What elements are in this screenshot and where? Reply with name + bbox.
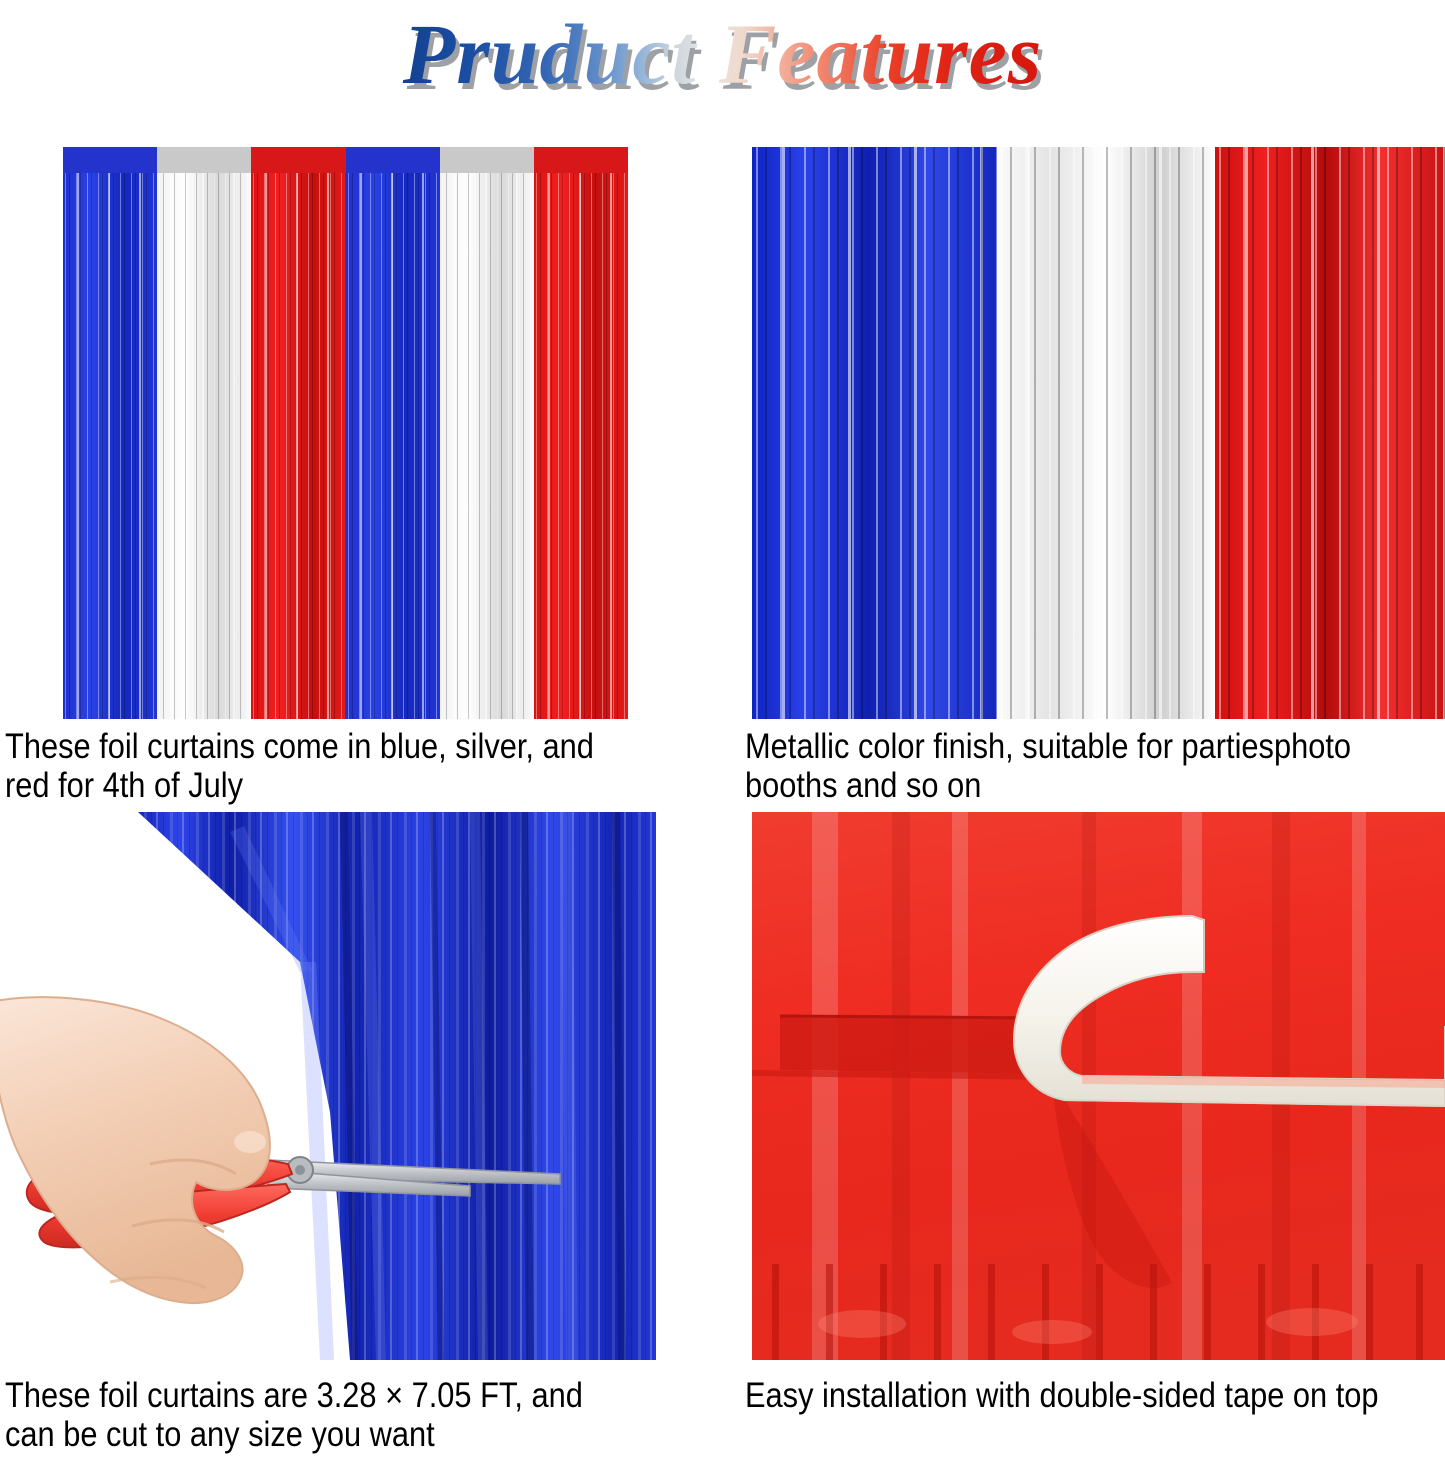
curtain-header-band	[251, 147, 345, 173]
foil-texture	[997, 147, 1216, 719]
stripe-group	[63, 147, 628, 719]
curtain-header-band	[440, 147, 534, 173]
feature-caption-cuttable-size: These foil curtains are 3.28 × 7.05 FT, …	[5, 1376, 639, 1454]
band-silver	[997, 147, 1216, 719]
band-blue	[752, 147, 997, 719]
band-group	[752, 147, 1445, 719]
stripe-red	[534, 147, 628, 719]
feature-card-colors: These foil curtains come in blue, silver…	[0, 130, 722, 820]
page-title: Pruduct Features	[397, 11, 1049, 107]
curtain-header-band	[157, 147, 251, 173]
knuckle-highlight	[234, 1131, 266, 1153]
page-header: Pruduct Features	[0, 0, 1445, 118]
curtain-header-band	[346, 147, 440, 173]
tape-scene	[752, 812, 1445, 1360]
curtain-fold-band	[780, 1016, 1052, 1074]
stripe-silver	[157, 147, 251, 719]
feature-caption-colors: These foil curtains come in blue, silver…	[5, 727, 621, 805]
feature-card-cuttable-size: These foil curtains are 3.28 × 7.05 FT, …	[0, 806, 722, 1469]
foil-texture	[752, 147, 997, 719]
stripe-red	[251, 147, 345, 719]
stripe-blue	[63, 147, 157, 719]
curtain-header-band	[63, 147, 157, 173]
feature-card-metallic-finish: Metallic color finish, suitable for part…	[723, 130, 1445, 820]
stripe-silver	[440, 147, 534, 719]
metallic-finish-closeup-photo	[752, 147, 1445, 719]
cutting-curtain-with-scissors-photo	[0, 812, 656, 1360]
band-red	[1215, 147, 1445, 719]
feature-card-easy-installation: Easy installation with double-sided tape…	[723, 806, 1445, 1469]
foil-curtain-stripes-photo	[63, 147, 628, 719]
foil-texture	[1215, 147, 1445, 719]
stripe-blue	[346, 147, 440, 719]
feature-caption-easy-installation: Easy installation with double-sided tape…	[745, 1376, 1396, 1415]
double-sided-tape-photo	[752, 812, 1445, 1360]
scissors-scene	[0, 812, 656, 1360]
feature-caption-metallic-finish: Metallic color finish, suitable for part…	[745, 727, 1379, 805]
curtain-header-band	[534, 147, 628, 173]
